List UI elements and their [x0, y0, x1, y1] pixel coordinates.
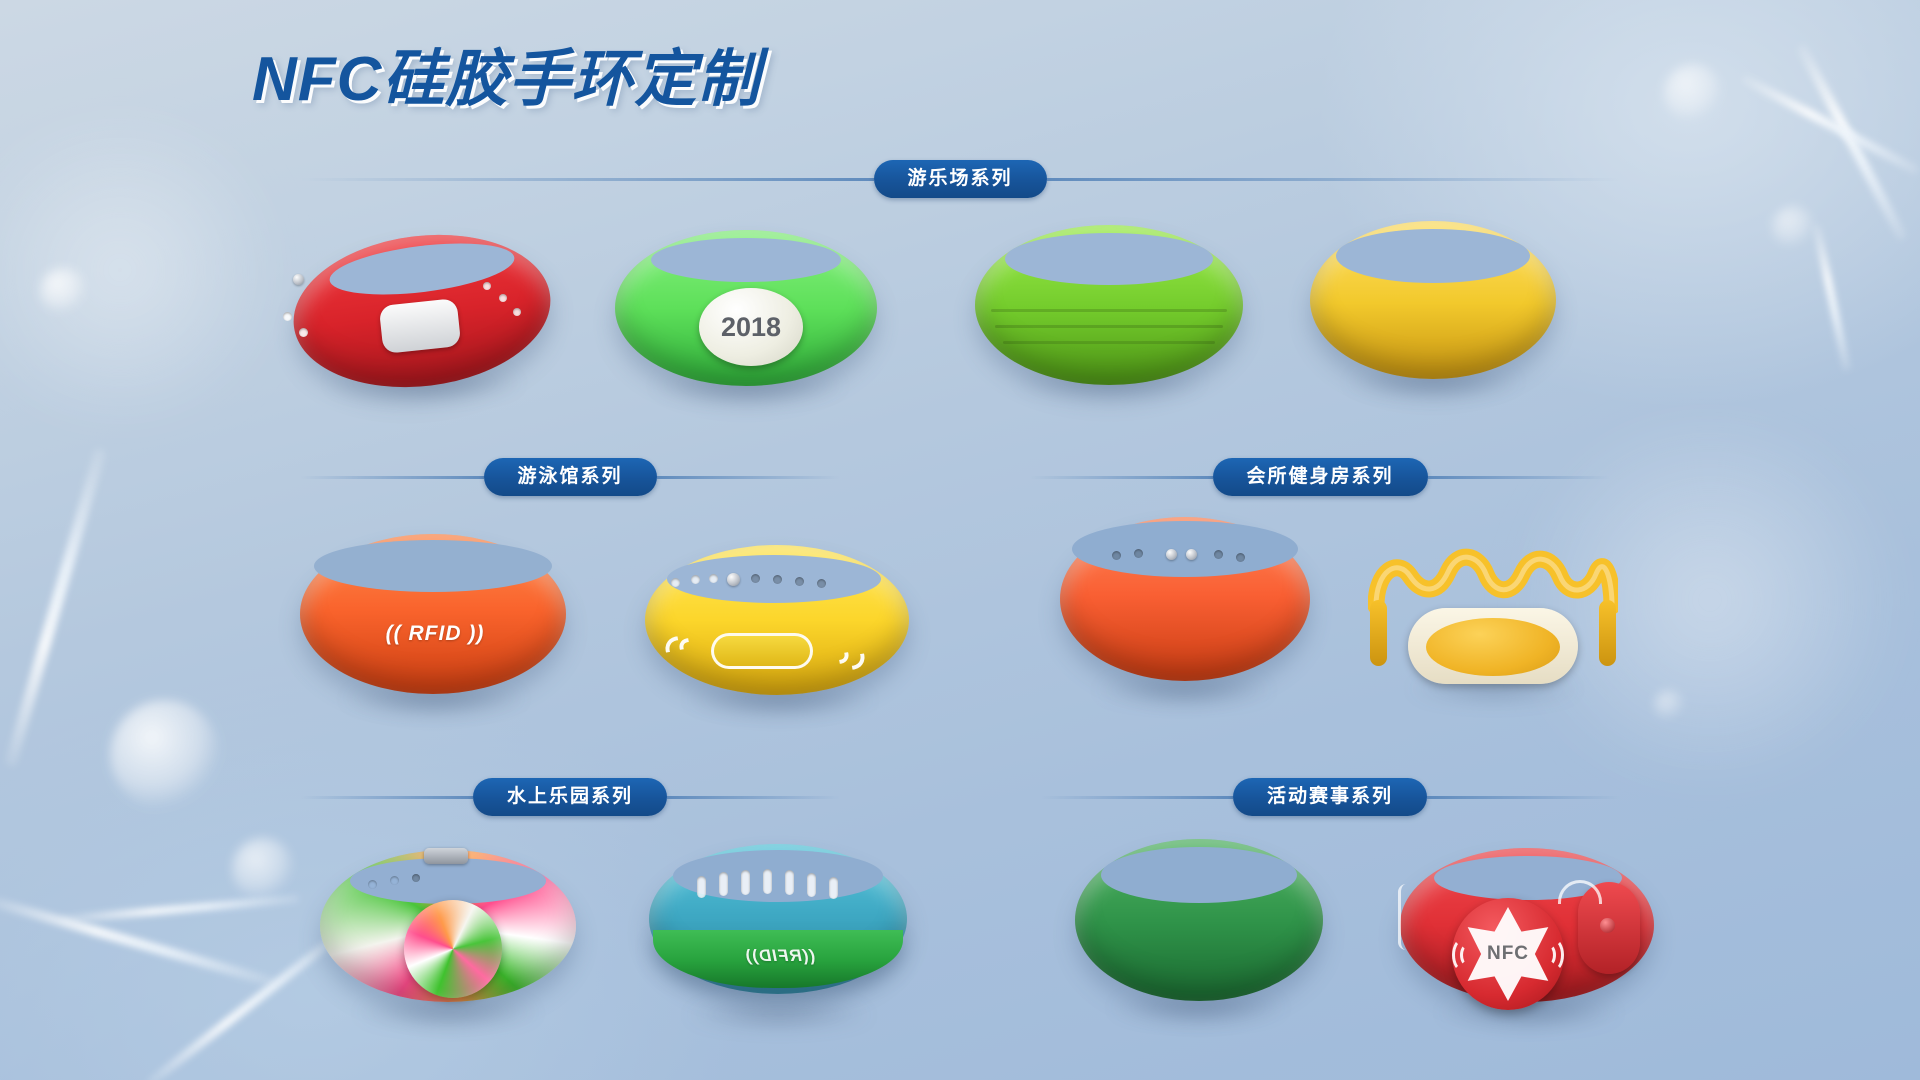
- product-green-closed-band[interactable]: [1075, 865, 1325, 1015]
- strap-buckle: [424, 848, 468, 864]
- wave-strap-right-leg: [1599, 600, 1616, 666]
- nfc-medical-badge: NFC: [1452, 898, 1564, 1010]
- section-label-events[interactable]: 活动赛事系列: [1233, 778, 1427, 816]
- product-yellow-closed-band[interactable]: [1310, 245, 1560, 395]
- strap-hole-3: [483, 282, 491, 290]
- rule-left: [300, 476, 484, 479]
- frost-branch-1: [4, 447, 106, 768]
- band-groove-1: [991, 309, 1227, 312]
- rule-left: [1030, 476, 1213, 479]
- band-face-plate: [379, 298, 462, 354]
- rule-right: [1047, 178, 1621, 181]
- section-header-events: 活动赛事系列: [1040, 778, 1620, 816]
- product-tiedye-round-band[interactable]: [320, 862, 580, 1022]
- frost-branch-4: [60, 895, 300, 924]
- section-label-water-park[interactable]: 水上乐园系列: [473, 778, 667, 816]
- product-red-adjustable-band[interactable]: [285, 250, 565, 400]
- strap-hole-5: [773, 575, 782, 584]
- band-groove-3: [1003, 341, 1215, 344]
- product-green-rfid-band[interactable]: ((RFID)): [645, 872, 915, 1022]
- product-green-oval-band[interactable]: 2018: [615, 240, 885, 400]
- strap-hole-2: [691, 575, 700, 584]
- rule-left: [300, 796, 473, 799]
- strap-stud-1: [1166, 549, 1177, 560]
- section-header-club-gym: 会所健身房系列: [1030, 458, 1610, 496]
- product-orange-stud-band[interactable]: [1060, 555, 1310, 700]
- section-label-amusement-park[interactable]: 游乐场系列: [874, 160, 1047, 198]
- strap-hole-3: [1214, 550, 1223, 559]
- perforation-6: [807, 873, 816, 897]
- strap-hole-1: [1112, 551, 1121, 560]
- strap-hole-6: [795, 577, 804, 586]
- section-label-swimming-pool[interactable]: 游泳馆系列: [484, 458, 657, 496]
- rule-right: [1427, 796, 1620, 799]
- band-inner-cutout: [651, 238, 841, 282]
- frost-branch-6: [1740, 74, 1920, 176]
- strap-seam-left: [1398, 884, 1414, 950]
- band-face-text: 2018: [721, 312, 781, 343]
- strap-hole-1: [283, 312, 292, 321]
- rule-right: [667, 796, 840, 799]
- band-inner-cutout: [1005, 233, 1213, 285]
- strap-stud: [293, 274, 304, 285]
- page-title: NFC硅胶手环定制: [252, 28, 760, 118]
- section-label-club-gym[interactable]: 会所健身房系列: [1213, 458, 1428, 496]
- section-header-swimming-pool: 游泳馆系列: [300, 458, 840, 496]
- rule-right: [657, 476, 841, 479]
- product-lime-closed-band[interactable]: [975, 245, 1245, 395]
- band-inner-cutout: [1336, 229, 1530, 283]
- perforation-3: [741, 870, 750, 895]
- frost-branch-7: [1812, 223, 1851, 371]
- band-rfid-label: (( RFID )): [300, 622, 570, 646]
- signal-wave-right-2: [1542, 938, 1564, 972]
- signal-wave-left-2: [1452, 938, 1474, 972]
- product-red-nfc-medical-band[interactable]: NFC: [1400, 862, 1660, 1022]
- perforation-1: [697, 876, 706, 898]
- rule-right: [1428, 476, 1611, 479]
- nfc-badge-text: NFC: [1487, 943, 1529, 965]
- wave-strap-left-leg: [1370, 600, 1387, 666]
- band-rfid-label: ((RFID)): [645, 946, 915, 966]
- strap-hole-5: [513, 308, 521, 316]
- perforation-5: [785, 870, 794, 895]
- perforation-2: [719, 872, 728, 896]
- bokeh-7: [1654, 690, 1684, 720]
- band-face-oval: 2018: [699, 288, 803, 366]
- rule-left: [1040, 796, 1233, 799]
- band-inner-cutout: [1072, 521, 1298, 577]
- strap-hole-2: [299, 328, 308, 337]
- perforation-4: [763, 869, 772, 894]
- strap-hole-1: [671, 578, 680, 587]
- strap-hole-7: [817, 579, 826, 588]
- section-header-amusement-park: 游乐场系列: [300, 160, 1620, 198]
- band-face-round: [404, 900, 502, 998]
- drop-shadow: [669, 992, 889, 1024]
- band-inner-cutout: [1101, 847, 1297, 903]
- band-inner-cutout: [350, 858, 546, 904]
- bokeh-4: [1664, 64, 1722, 122]
- bokeh-5: [1772, 206, 1814, 248]
- band-groove-2: [995, 325, 1223, 328]
- section-header-water-park: 水上乐园系列: [300, 778, 840, 816]
- band-inner-cutout: [314, 540, 552, 592]
- strap-hole-2: [1134, 549, 1143, 558]
- strap-hole-4: [1236, 553, 1245, 562]
- haze-top-left: [0, 120, 300, 420]
- perforation-7: [829, 877, 838, 899]
- bokeh-1: [40, 268, 86, 314]
- frost-branch-5: [1796, 43, 1908, 242]
- band-face-oval: [1426, 618, 1560, 676]
- product-yellow-wave-band[interactable]: [1368, 548, 1618, 700]
- strap-pin: [1600, 918, 1615, 933]
- strap-hole-4: [751, 574, 760, 583]
- strap-hole-3: [709, 574, 718, 583]
- product-showcase-poster: NFC硅胶手环定制 游乐场系列 2018: [0, 0, 1920, 1080]
- strap-hole-3: [412, 874, 420, 882]
- product-yellow-signal-band[interactable]: [645, 555, 915, 710]
- rule-left: [300, 178, 874, 181]
- band-face-plate: [711, 633, 813, 669]
- strap-hole-2: [390, 876, 399, 885]
- strap-stud-2: [1186, 549, 1197, 560]
- strap-hole-4: [499, 294, 507, 302]
- frost-branch-2: [0, 895, 276, 987]
- bokeh-2: [110, 700, 220, 810]
- bokeh-3: [232, 838, 294, 900]
- strap-hole-1: [368, 880, 377, 889]
- product-orange-rfid-band[interactable]: (( RFID )): [300, 570, 570, 710]
- strap-stud: [727, 573, 740, 586]
